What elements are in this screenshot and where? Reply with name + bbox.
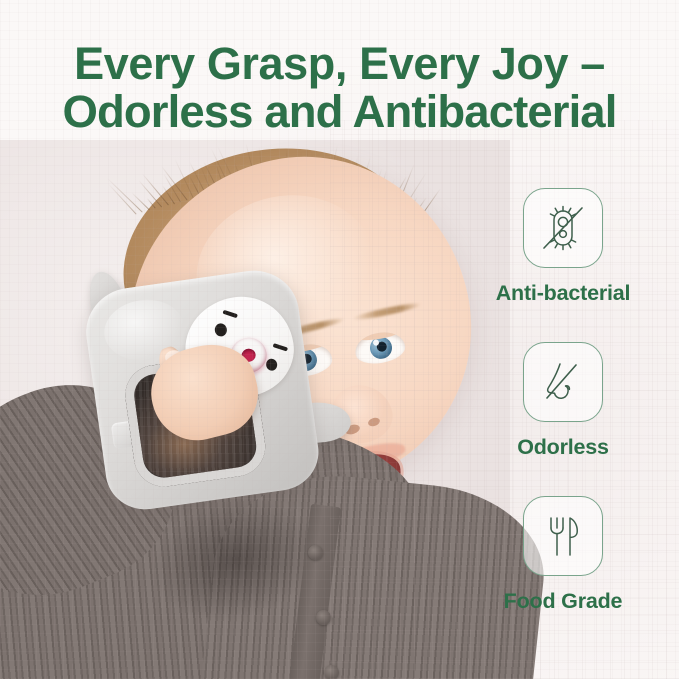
- badge-icon-box: [523, 188, 603, 268]
- feature-badge-list: Anti-bacterial Odorless: [463, 188, 663, 614]
- headline-line-1: Every Grasp, Every Joy –: [0, 40, 679, 88]
- badge-label: Anti-bacterial: [496, 281, 631, 306]
- feature-badge-anti-bacterial: Anti-bacterial: [496, 188, 631, 306]
- badge-label: Food Grade: [504, 589, 623, 614]
- badge-label: Odorless: [517, 435, 609, 460]
- feature-badge-odorless: Odorless: [517, 342, 609, 460]
- page-title: Every Grasp, Every Joy – Odorless and An…: [0, 40, 679, 137]
- onesie-button: [308, 545, 323, 560]
- onesie-button: [316, 610, 331, 625]
- nose-slashed-icon: [536, 355, 590, 409]
- bacteria-slashed-icon: [536, 201, 590, 255]
- teether-toy: [55, 233, 357, 533]
- feature-graphic-canvas: Every Grasp, Every Joy – Odorless and An…: [0, 0, 679, 679]
- fork-knife-icon: [536, 509, 590, 563]
- badge-icon-box: [523, 496, 603, 576]
- feature-badge-food-grade: Food Grade: [504, 496, 623, 614]
- badge-icon-box: [523, 342, 603, 422]
- headline-line-2: Odorless and Antibacterial: [0, 88, 679, 137]
- onesie-button: [324, 665, 339, 679]
